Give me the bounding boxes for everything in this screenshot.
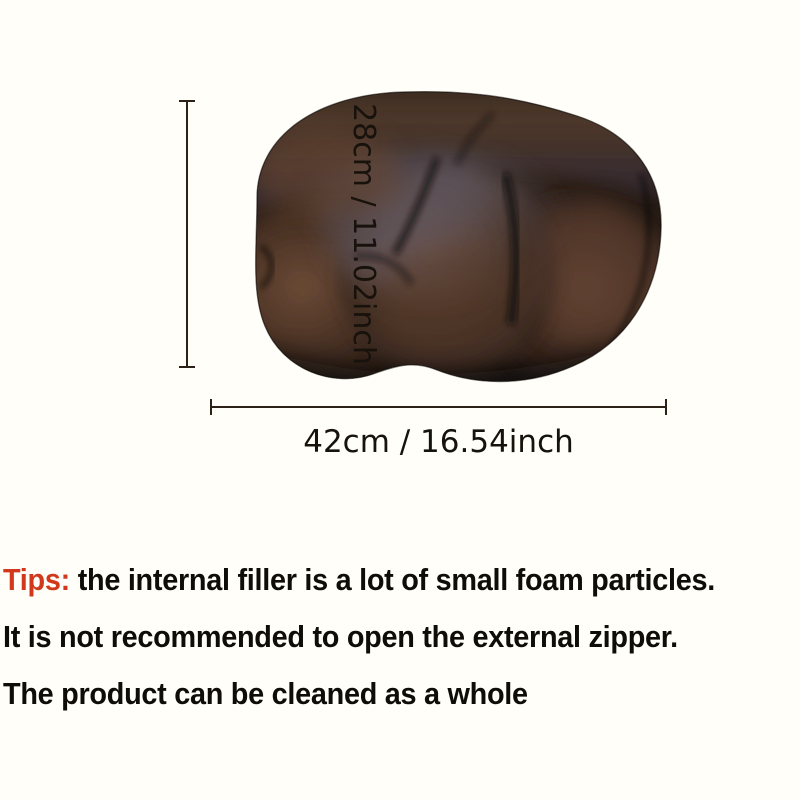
dimension-label-vertical: 28cm / 11.02inch [342, 100, 386, 368]
tips-line-1: Tips: the internal filler is a lot of sm… [3, 551, 741, 608]
tips-block: Tips: the internal filler is a lot of sm… [3, 551, 797, 722]
dimension-cap-right [665, 399, 667, 415]
tips-line-3: The product can be cleaned as a whole [3, 665, 741, 722]
pillow-warm-highlight-right [527, 204, 659, 344]
dimension-cap-top [179, 100, 195, 102]
tips-line-3-text: The product can be cleaned as a whole [3, 676, 528, 711]
dimension-label-horizontal: 42cm / 16.54inch [210, 424, 667, 460]
tips-line-1-text: the internal filler is a lot of small fo… [70, 562, 715, 597]
tips-line-2: It is not recommended to open the extern… [3, 608, 741, 665]
product-photo [205, 78, 670, 398]
dimension-cap-bottom [179, 366, 195, 368]
dimension-cap-left [210, 399, 212, 415]
tips-keyword: Tips: [3, 562, 70, 597]
tips-line-2-text: It is not recommended to open the extern… [3, 619, 678, 654]
product-image-canvas: 28cm / 11.02inch 42cm / 16.54inch Tips: … [0, 0, 800, 800]
pillow-illustration [205, 78, 670, 398]
dimension-line-horizontal [210, 406, 667, 408]
dimension-line-vertical [186, 100, 188, 368]
